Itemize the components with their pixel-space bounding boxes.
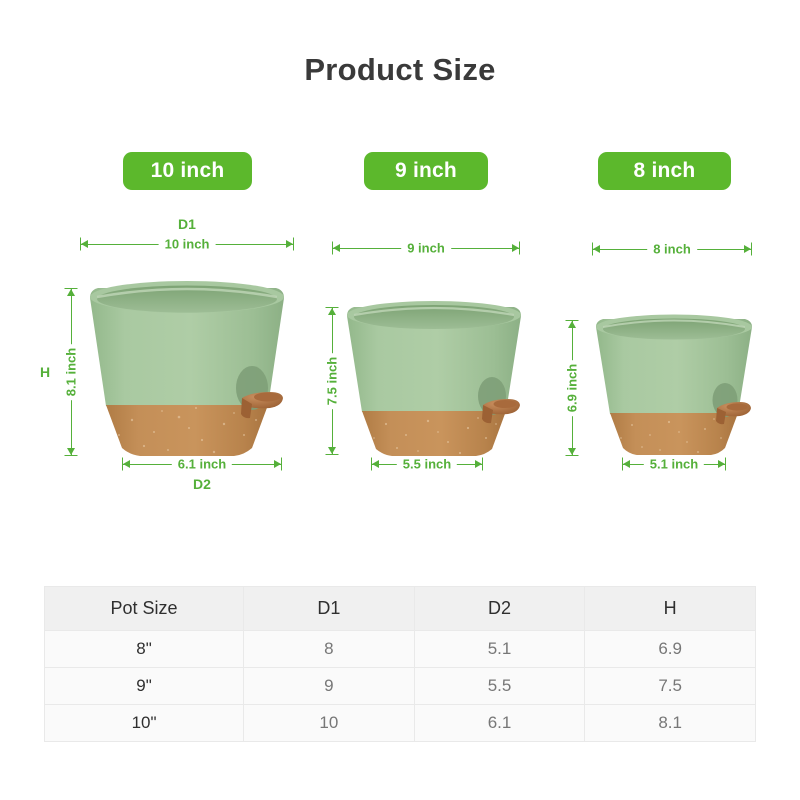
dimension-arrow-top [67,289,75,296]
table-cell-pot-size: 9" [45,668,244,705]
dimension-value-d1: 10 inch [159,237,216,252]
dimension-arrow-left [81,240,88,248]
dimension-label-d1: D1 [80,216,294,232]
dimension-value-d2: 6.1 inch [172,457,232,472]
dimension-value-d2: 5.1 inch [644,457,704,472]
table-row: 10" 10 6.1 8.1 [45,705,756,742]
size-badge-10-inch: 10 inch [123,152,252,190]
table-cell-d2: 5.5 [414,668,585,705]
pot-illustration-8-inch [592,313,754,457]
table-header-d2: D2 [414,587,585,631]
dimension-arrow-bottom [328,447,336,454]
dimension-arrow-right [718,460,725,468]
dimension-cap-right [519,242,520,255]
table-cell-d1: 9 [244,668,415,705]
table-cell-d2: 6.1 [414,705,585,742]
dimension-arrow-top [328,308,336,315]
table-cell-h: 7.5 [585,668,756,705]
table-cell-pot-size: 10" [45,705,244,742]
pot-illustration-9-inch [342,300,526,458]
dimension-label-h: H [40,364,50,380]
dimension-height-9inch: 7.5 inch [323,307,341,455]
table-cell-h: 6.9 [585,631,756,668]
dimension-value-h: 8.1 inch [61,344,82,400]
dimension-arrow-top [568,321,576,328]
dimension-arrow-bottom [568,448,576,455]
page-title: Product Size [0,52,800,88]
dimension-arrow-right [286,240,293,248]
table-cell-d1: 10 [244,705,415,742]
dimension-arrow-left [593,245,600,253]
dimension-height-8inch: 6.9 inch [563,320,581,456]
table-row: 9" 9 5.5 7.5 [45,668,756,705]
dimension-cap-right [281,458,282,471]
dimension-cap-right [725,458,726,471]
dimension-arrow-left [333,244,340,252]
table-cell-pot-size: 8" [45,631,244,668]
table-header-pot-size: Pot Size [45,587,244,631]
dimension-top-10inch: D1 10 inch [80,236,294,252]
dimension-cap-right [482,458,483,471]
table-cell-h: 8.1 [585,705,756,742]
dimension-value-h: 6.9 inch [562,360,583,416]
dimension-cap-bottom [65,455,78,456]
dimension-arrow-bottom [67,448,75,455]
table-cell-d2: 5.1 [414,631,585,668]
size-badge-8-inch: 8 inch [598,152,731,190]
pot-illustration-10-inch [84,280,290,460]
dimension-arrow-right [475,460,482,468]
dimension-bottom-9inch: 5.5 inch [371,456,483,472]
dimension-arrow-right [512,244,519,252]
dimension-value-d2: 5.5 inch [397,457,457,472]
table-header-h: H [585,587,756,631]
dimension-bottom-8inch: 5.1 inch [622,456,726,472]
table-header-d1: D1 [244,587,415,631]
dimension-label-d2: D2 [122,476,282,492]
table-cell-d1: 8 [244,631,415,668]
dimension-arrow-right [744,245,751,253]
dimension-bottom-10inch: 6.1 inch D2 [122,456,282,472]
dimension-top-9inch: 9 inch [332,240,520,256]
dimension-arrow-left [623,460,630,468]
dimension-cap-bottom [566,455,579,456]
dimension-value-d1: 9 inch [401,241,451,256]
size-badge-9-inch: 9 inch [364,152,488,190]
table-header-row: Pot Size D1 D2 H [45,587,756,631]
dimension-cap-bottom [326,454,339,455]
dimension-value-h: 7.5 inch [322,353,343,409]
dimension-value-d1: 8 inch [647,242,697,257]
dimension-arrow-left [372,460,379,468]
table-row: 8" 8 5.1 6.9 [45,631,756,668]
size-table: Pot Size D1 D2 H 8" 8 5.1 6.9 9" 9 5.5 7… [44,586,756,742]
dimension-arrow-right [274,460,281,468]
dimension-cap-right [751,243,752,256]
dimension-cap-right [293,238,294,251]
dimension-arrow-left [123,460,130,468]
dimension-top-8inch: 8 inch [592,241,752,257]
dimension-height-10inch: 8.1 inch [62,288,80,456]
